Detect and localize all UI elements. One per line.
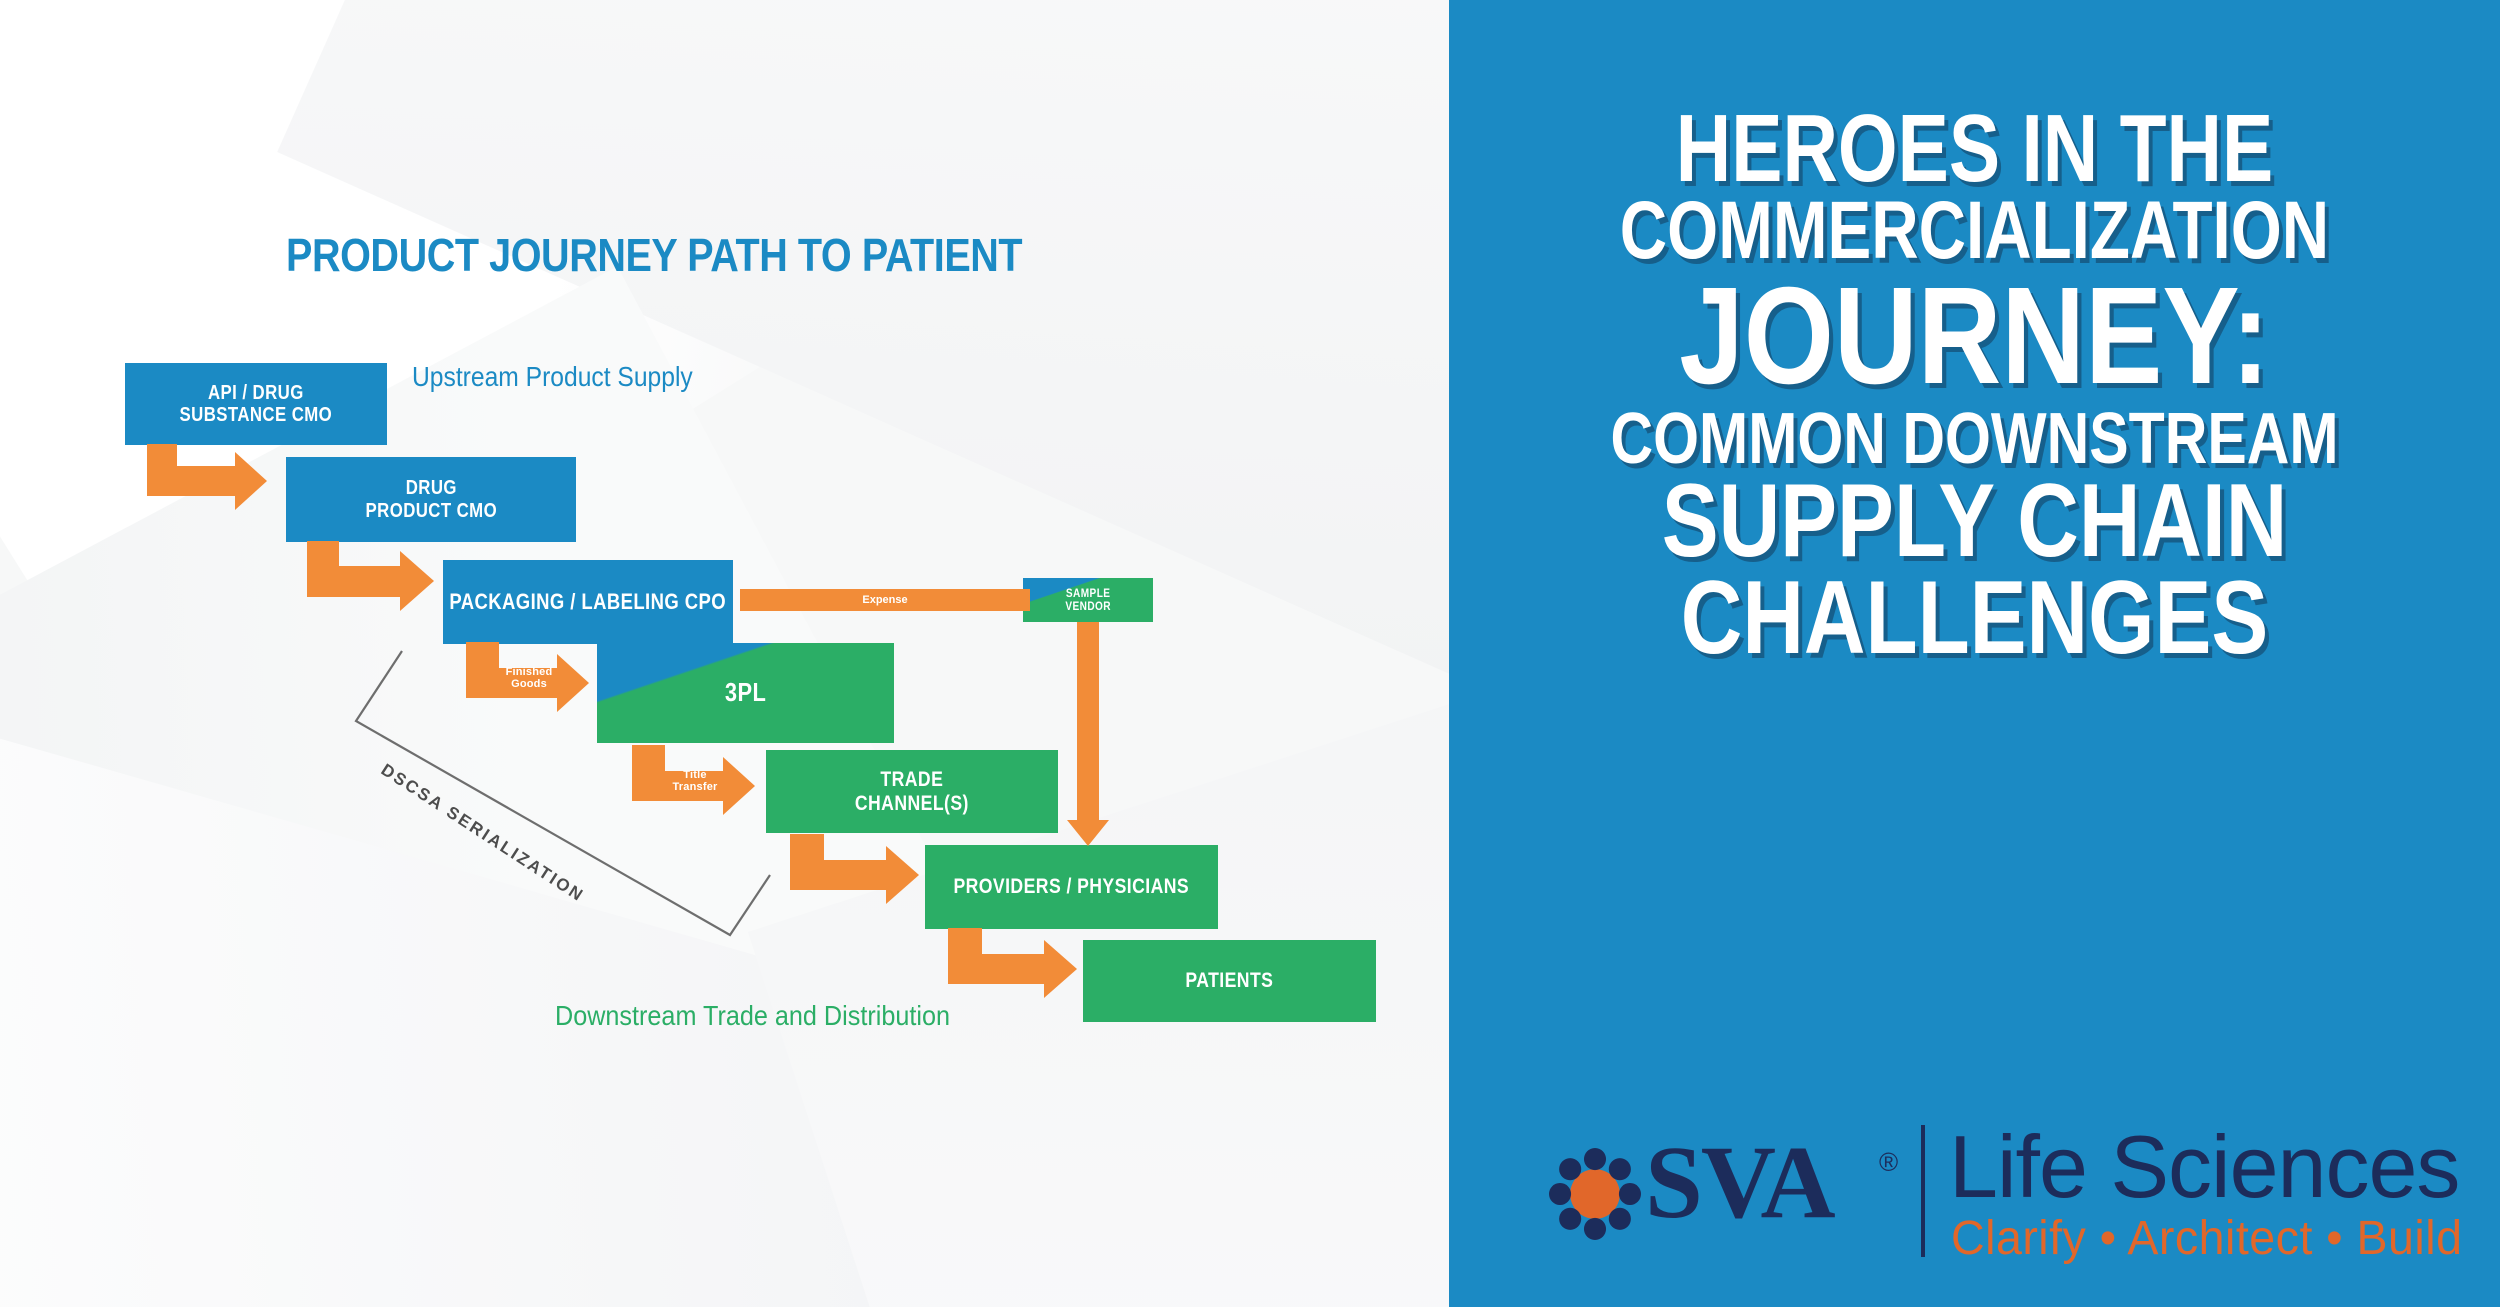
headline-line-1: HEROES IN THE [1554,104,2395,193]
arrow-api-to-drug-product [147,444,277,504]
node-api-drug-substance-cmo[interactable]: API / DRUGSUBSTANCE CMO [125,363,387,445]
logo-tagline: Clarify • Architect • Build [1951,1211,2462,1266]
node-patients[interactable]: PATIENTS [1083,940,1376,1022]
downstream-section-label: Downstream Trade and Distribution [555,1000,950,1032]
arrow-3pl-to-trade-channels: TitleTransfer [632,745,772,809]
arrow-sample-vendor-to-providers [1066,622,1110,850]
sva-brand-wordmark: SVA [1645,1131,1834,1235]
diagram-title: PRODUCT JOURNEY PATH TO PATIENT [286,228,1022,282]
sva-flower-icon [1549,1148,1641,1240]
node-providers-physicians[interactable]: PROVIDERS / PHYSICIANS [925,845,1218,929]
arrow-label-title-transfer: TitleTransfer [664,769,726,793]
logo-division-name: Life Sciences [1949,1121,2459,1213]
node-packaging-labeling-cpo[interactable]: PACKAGING / LABELING CPO [443,560,733,644]
headline-block: HEROES IN THE COMMERCIALIZATION JOURNEY:… [1449,104,2500,666]
connector-label-expense: Expense [740,594,1030,606]
headline-line-5: SUPPLY CHAIN [1544,473,2406,570]
node-drug-product-cmo[interactable]: DRUGPRODUCT CMO [286,457,576,542]
upstream-section-label: Upstream Product Supply [412,361,693,393]
node-3pl[interactable]: 3PL [597,643,894,743]
logo-divider [1921,1125,1925,1257]
sva-life-sciences-logo[interactable]: SVA ® Life Sciences Clarify • Architect … [1549,1125,2479,1265]
arrow-providers-to-patients [948,928,1093,992]
arrow-packaging-to-3pl: FinishedGoods [466,642,606,706]
arrow-drug-product-to-packaging [307,541,452,606]
node-sample-vendor[interactable]: SAMPLEVENDOR [1023,578,1153,622]
headline-line-3: JOURNEY: [1533,272,2416,400]
connector-expense: Expense [740,589,1030,611]
arrow-trade-channels-to-providers [790,834,935,898]
registered-trademark-icon: ® [1879,1147,1898,1178]
diagram-panel: PRODUCT JOURNEY PATH TO PATIENT Upstream… [0,0,1449,1307]
arrow-label-finished-goods: FinishedGoods [498,666,560,690]
headline-line-6: CHALLENGES [1544,570,2406,667]
title-panel: HEROES IN THE COMMERCIALIZATION JOURNEY:… [1449,0,2500,1307]
node-trade-channels[interactable]: TRADECHANNEL(S) [766,750,1058,833]
